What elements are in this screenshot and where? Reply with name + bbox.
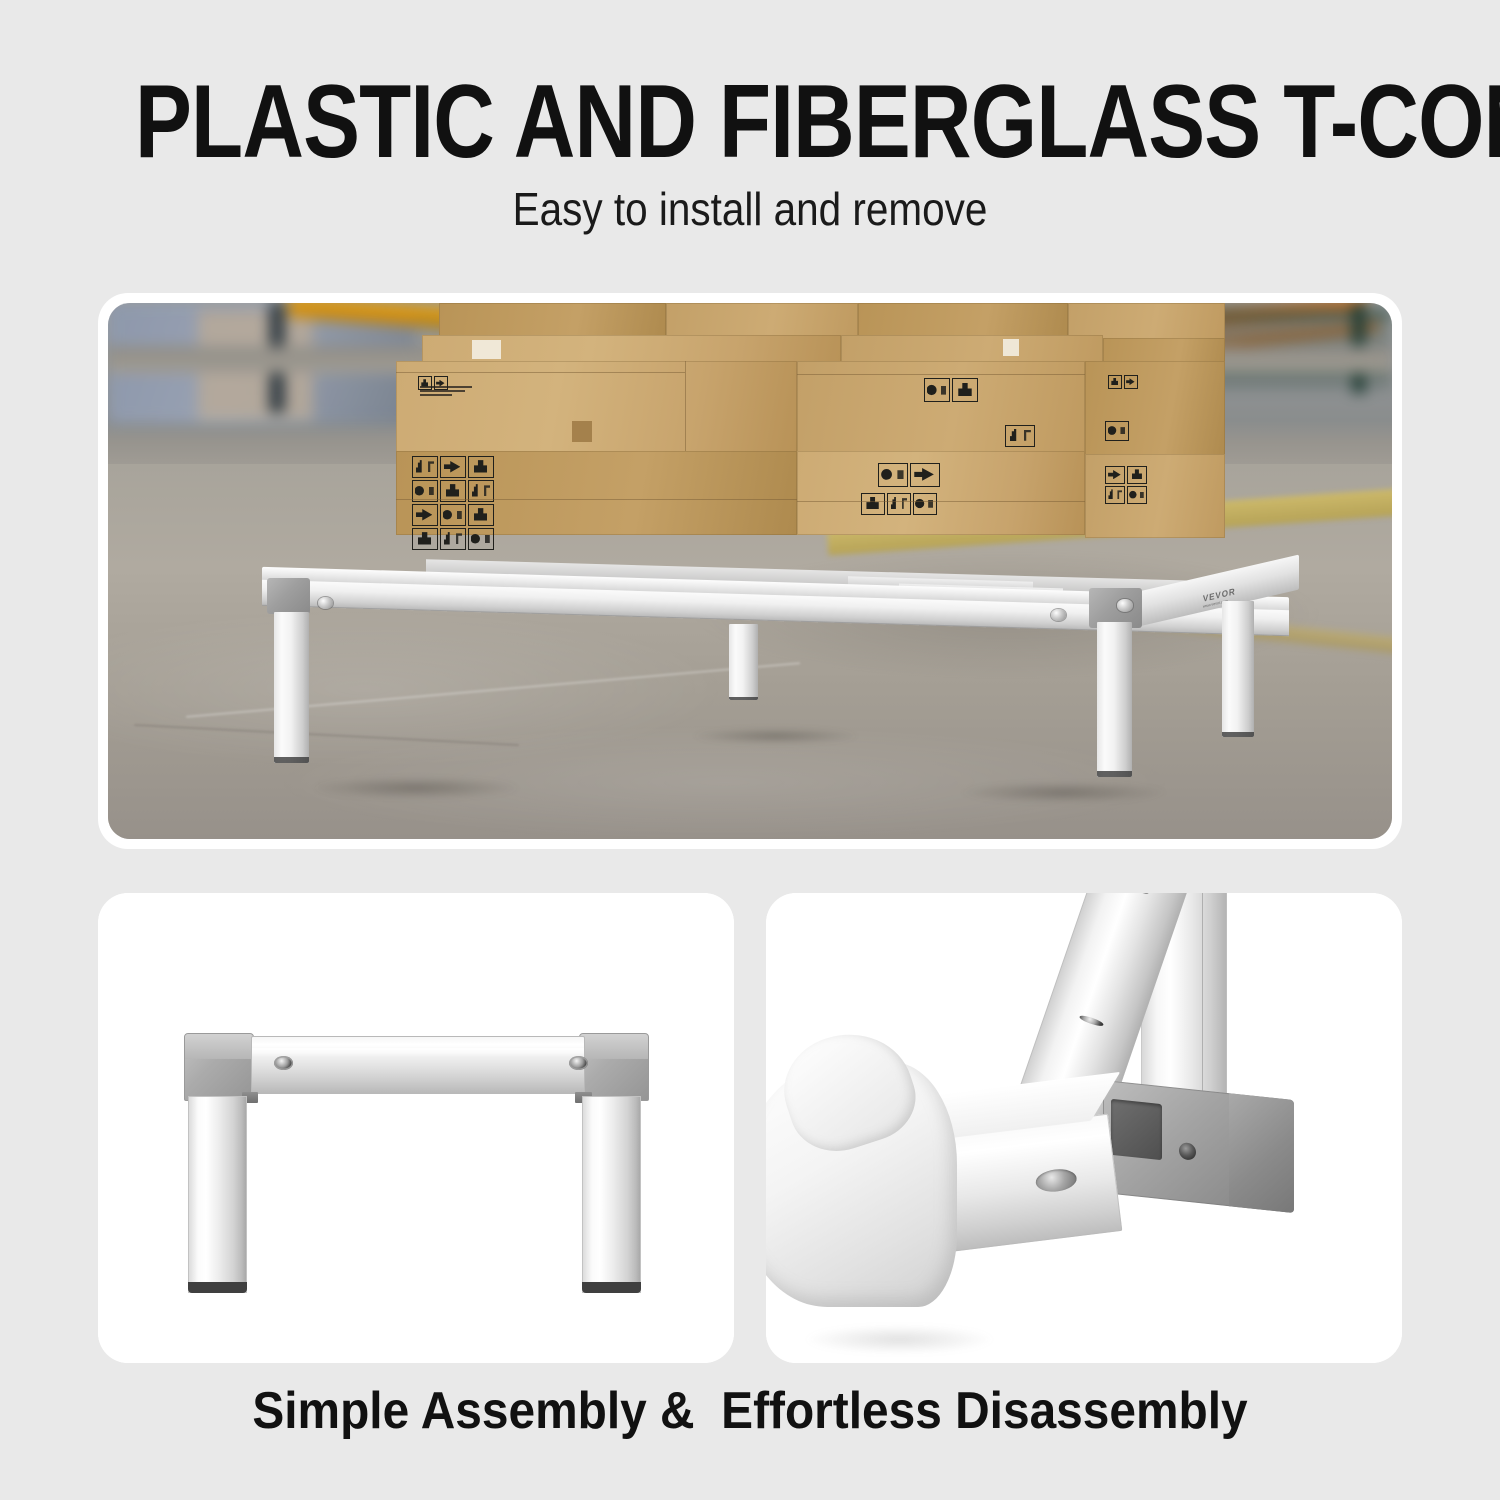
- leg-foot: [188, 1282, 247, 1294]
- box-seam: [797, 501, 1085, 502]
- t-connector-left: [184, 1033, 254, 1101]
- beam-bolt-hole: [1079, 1013, 1104, 1026]
- connector-top-face: [580, 1034, 648, 1059]
- box-handling-symbols: [1005, 425, 1035, 447]
- box-seam: [396, 499, 798, 500]
- hero-product-photo: VEVORwww.vevor.com: [108, 303, 1392, 839]
- box-seam: [396, 372, 685, 373]
- box-handling-symbols: [924, 378, 978, 402]
- handling-symbol: [887, 493, 911, 515]
- handling-symbol: [1005, 425, 1035, 447]
- box-tape: [1003, 339, 1019, 356]
- handling-symbol: [440, 504, 466, 526]
- install-detail-card[interactable]: [766, 893, 1402, 1363]
- box-tape: [472, 340, 501, 360]
- connector-side-face: [1229, 1094, 1294, 1214]
- box-tape-brown: [572, 421, 592, 442]
- dunnage-rack: VEVORwww.vevor.com: [262, 582, 1289, 818]
- box-handling-symbols: [412, 456, 494, 550]
- handling-symbol: [952, 378, 978, 402]
- cardboard-box-front-right: [797, 361, 1085, 457]
- handling-symbol: [1127, 466, 1147, 484]
- handling-symbol: [861, 493, 885, 515]
- handling-symbol: [468, 528, 494, 550]
- socket-opening: [1111, 1099, 1163, 1161]
- rack-leg: [729, 624, 758, 699]
- box-handling-symbols: [861, 493, 937, 515]
- handling-symbol: [878, 463, 908, 487]
- box-seam: [797, 374, 1085, 375]
- handling-symbol: [1124, 375, 1138, 389]
- page-title: PLASTIC AND FIBERGLASS T-CONNCTER: [135, 70, 1365, 174]
- beam-bolt-hole: [1124, 893, 1149, 895]
- rack-end-frame: [98, 893, 734, 1363]
- box-handling-symbols: [1108, 375, 1138, 389]
- handling-symbol: [913, 493, 937, 515]
- box-handling-symbols: [418, 376, 448, 390]
- frame-assembly-photo: [98, 893, 734, 1363]
- cardboard-box: [1085, 361, 1225, 461]
- cardboard-box: [1085, 454, 1225, 538]
- handling-symbol: [412, 504, 438, 526]
- hero-card[interactable]: VEVORwww.vevor.com: [98, 293, 1402, 849]
- t-connector-right: [579, 1033, 649, 1101]
- frame-leg-left: [188, 1096, 247, 1293]
- handling-symbol: [440, 456, 466, 478]
- t-connector-socket: [1103, 1080, 1294, 1213]
- handling-symbol: [440, 528, 466, 550]
- rack-leg: [274, 612, 309, 763]
- connector-install-closeup: [766, 893, 1402, 1363]
- leg-cap: [274, 757, 309, 763]
- header: PLASTIC AND FIBERGLASS T-CONNCTER Easy t…: [0, 0, 1500, 285]
- leg-cap: [1097, 771, 1132, 777]
- rack-leg: [1097, 622, 1132, 778]
- hand-shadow: [804, 1325, 995, 1353]
- handling-symbol: [910, 463, 940, 487]
- post-edge: [1202, 893, 1203, 1119]
- leg-foot: [582, 1282, 641, 1294]
- leg-shadow: [693, 728, 857, 745]
- leg-shadow: [313, 777, 518, 798]
- cardboard-box-bottom-right: [797, 451, 1085, 535]
- handling-symbol: [1105, 486, 1125, 504]
- t-connector: [267, 578, 310, 613]
- handling-symbol: [1105, 466, 1125, 484]
- connector-bolt-hole: [1179, 1143, 1196, 1162]
- connector-bolt: [1117, 599, 1133, 611]
- rack-leg: [1222, 601, 1254, 738]
- frame-assembly-card[interactable]: [98, 893, 734, 1363]
- box-seam: [685, 361, 686, 457]
- beam-highlight: [252, 1048, 584, 1057]
- handling-symbol: [434, 376, 448, 390]
- leg-shadow: [961, 782, 1166, 803]
- leg-cap: [1222, 732, 1254, 737]
- page-subtitle: Easy to install and remove: [90, 184, 1410, 234]
- frame-leg-right: [582, 1096, 641, 1293]
- beam-bolt-hole: [1035, 1167, 1078, 1194]
- footer-caption: Simple Assembly & Effortless Disassembly: [60, 1382, 1440, 1440]
- handling-symbol: [924, 378, 950, 402]
- crossbar-beam: [251, 1036, 585, 1093]
- handling-symbol: [412, 528, 438, 550]
- leg-cap: [729, 697, 758, 700]
- box-handling-symbols: [1105, 466, 1147, 504]
- connector-top-face: [185, 1034, 253, 1059]
- warehouse-scene: VEVORwww.vevor.com: [108, 303, 1392, 839]
- handling-symbol: [468, 456, 494, 478]
- connector-bolt: [318, 597, 333, 609]
- box-handling-symbols: [878, 463, 940, 487]
- handling-symbol: [1105, 421, 1129, 441]
- handling-symbol: [1108, 375, 1122, 389]
- cardboard-box-front-left: [396, 361, 798, 457]
- box-handling-symbols: [1105, 421, 1129, 441]
- handling-symbol: [418, 376, 432, 390]
- install-detail-photo: [766, 893, 1402, 1363]
- handling-symbol: [412, 456, 438, 478]
- handling-symbol: [468, 504, 494, 526]
- cardboard-box-bottom-left: [396, 451, 798, 535]
- connector-bolt: [1051, 609, 1066, 621]
- handling-symbol: [1127, 486, 1147, 504]
